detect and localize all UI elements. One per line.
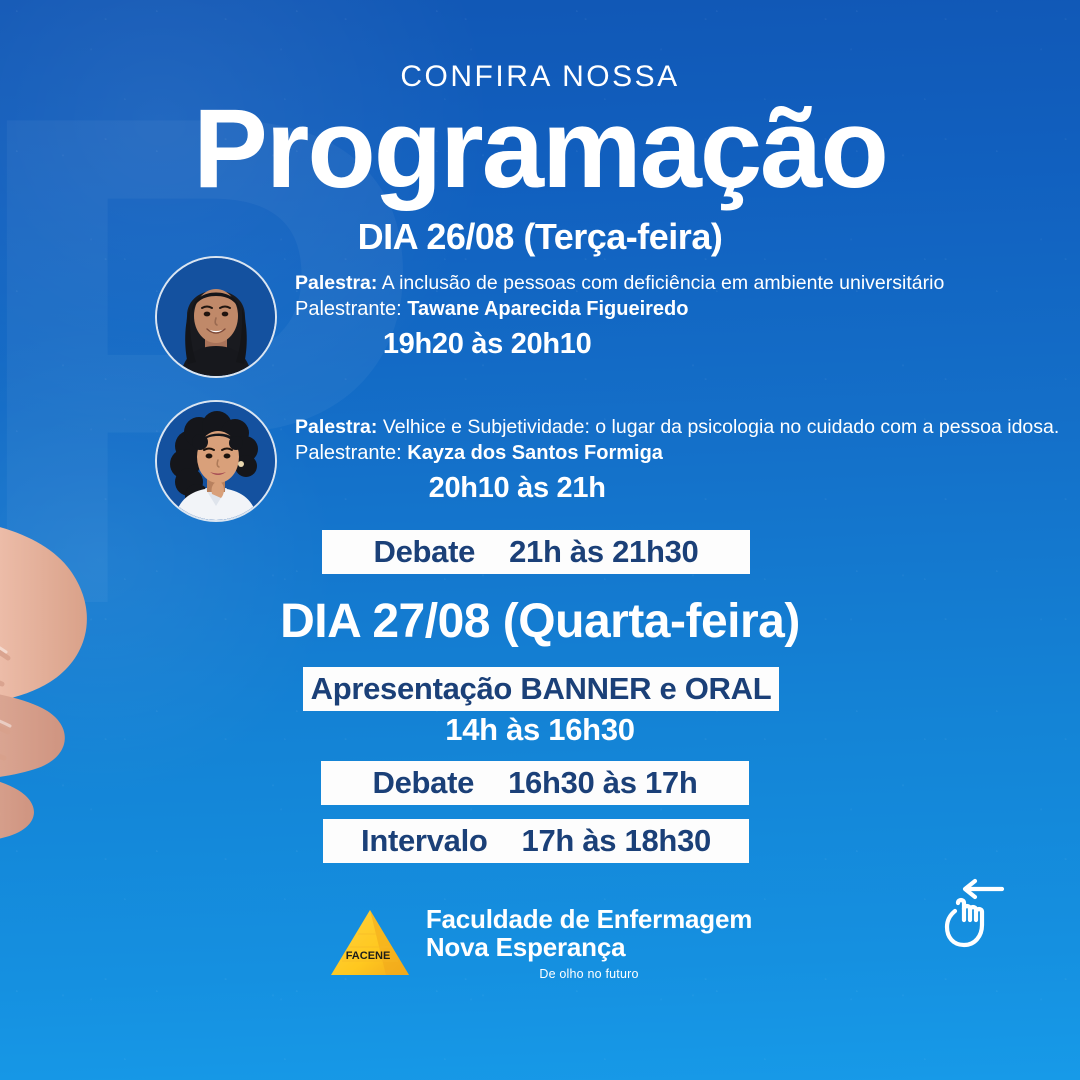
page-title: Programação xyxy=(0,94,1080,204)
speaker-label-1: Palestrante: xyxy=(295,298,402,320)
pill-label-debate-day2: Debate xyxy=(372,765,474,801)
speaker-name-2: Kayza dos Santos Formiga xyxy=(407,442,663,464)
speaker-photo-tawane xyxy=(155,256,277,378)
footer-branding: FACENE Faculdade de Enfermagem Nova Espe… xyxy=(0,905,1080,982)
facene-name-line-1: Faculdade de Enfermagem xyxy=(426,905,752,933)
pill-label-banner-oral: Apresentação BANNER e ORAL xyxy=(311,671,772,707)
swipe-left-hand-icon[interactable] xyxy=(932,872,1018,958)
facene-logo-badge-text: FACENE xyxy=(346,950,391,962)
speaker-name-1: Tawane Aparecida Figueiredo xyxy=(407,298,688,320)
talk-title-line-2: Palestra: Velhice e Subjetividade: o lug… xyxy=(295,415,1059,440)
pill-time-debate-day2: 16h30 às 17h xyxy=(508,765,697,801)
speaker-name-line-1: Palestrante: Tawane Aparecida Figueiredo xyxy=(295,297,944,323)
schedule-time-banner-oral: 14h às 16h30 xyxy=(0,712,1080,748)
pill-time-intervalo: 17h às 18h30 xyxy=(522,823,711,859)
speaker-name-line-2: Palestrante: Kayza dos Santos Formiga xyxy=(295,441,1059,467)
facene-pyramid-logo-icon: FACENE xyxy=(328,907,412,979)
facene-name-line-2: Nova Esperança xyxy=(426,933,752,961)
programacao-poster: P xyxy=(0,0,1080,1080)
talk-label-1: Palestra: xyxy=(295,272,377,294)
speaker-time-1: 19h20 às 20h10 xyxy=(295,326,944,363)
schedule-pill-intervalo: Intervalo 17h às 18h30 xyxy=(323,819,749,863)
day-heading-2: DIA 27/08 (Quarta-feira) xyxy=(0,594,1080,649)
speaker-time-2: 20h10 às 21h xyxy=(295,470,1059,507)
speaker-row-2: Palestra: Velhice e Subjetividade: o lug… xyxy=(155,400,1059,522)
speaker-row-1: Palestra: A inclusão de pessoas com defi… xyxy=(155,256,944,378)
speaker-label-2: Palestrante: xyxy=(295,442,402,464)
day-heading-1: DIA 26/08 (Terça-feira) xyxy=(0,216,1080,258)
talk-title-1: A inclusão de pessoas com deficiência em… xyxy=(382,272,945,294)
speaker-photo-kayza xyxy=(155,400,277,522)
schedule-pill-banner-oral: Apresentação BANNER e ORAL xyxy=(303,667,779,711)
pill-label-intervalo: Intervalo xyxy=(361,823,488,859)
schedule-pill-debate-day2: Debate 16h30 às 17h xyxy=(321,761,749,805)
pill-time-debate-day1: 21h às 21h30 xyxy=(509,534,698,570)
talk-title-2: Velhice e Subjetividade: o lugar da psic… xyxy=(383,416,1059,438)
brain-illustration xyxy=(0,512,182,842)
pill-label-debate-day1: Debate xyxy=(373,534,475,570)
schedule-pill-debate-day1: Debate 21h às 21h30 xyxy=(322,530,750,574)
poster-header: CONFIRA NOSSA Programação xyxy=(0,62,1080,204)
talk-label-2: Palestra: xyxy=(295,416,377,438)
facene-tagline: De olho no futuro xyxy=(426,968,752,982)
facene-logo-wordmark: Faculdade de Enfermagem Nova Esperança D… xyxy=(426,905,752,982)
talk-title-line-1: Palestra: A inclusão de pessoas com defi… xyxy=(295,271,944,296)
